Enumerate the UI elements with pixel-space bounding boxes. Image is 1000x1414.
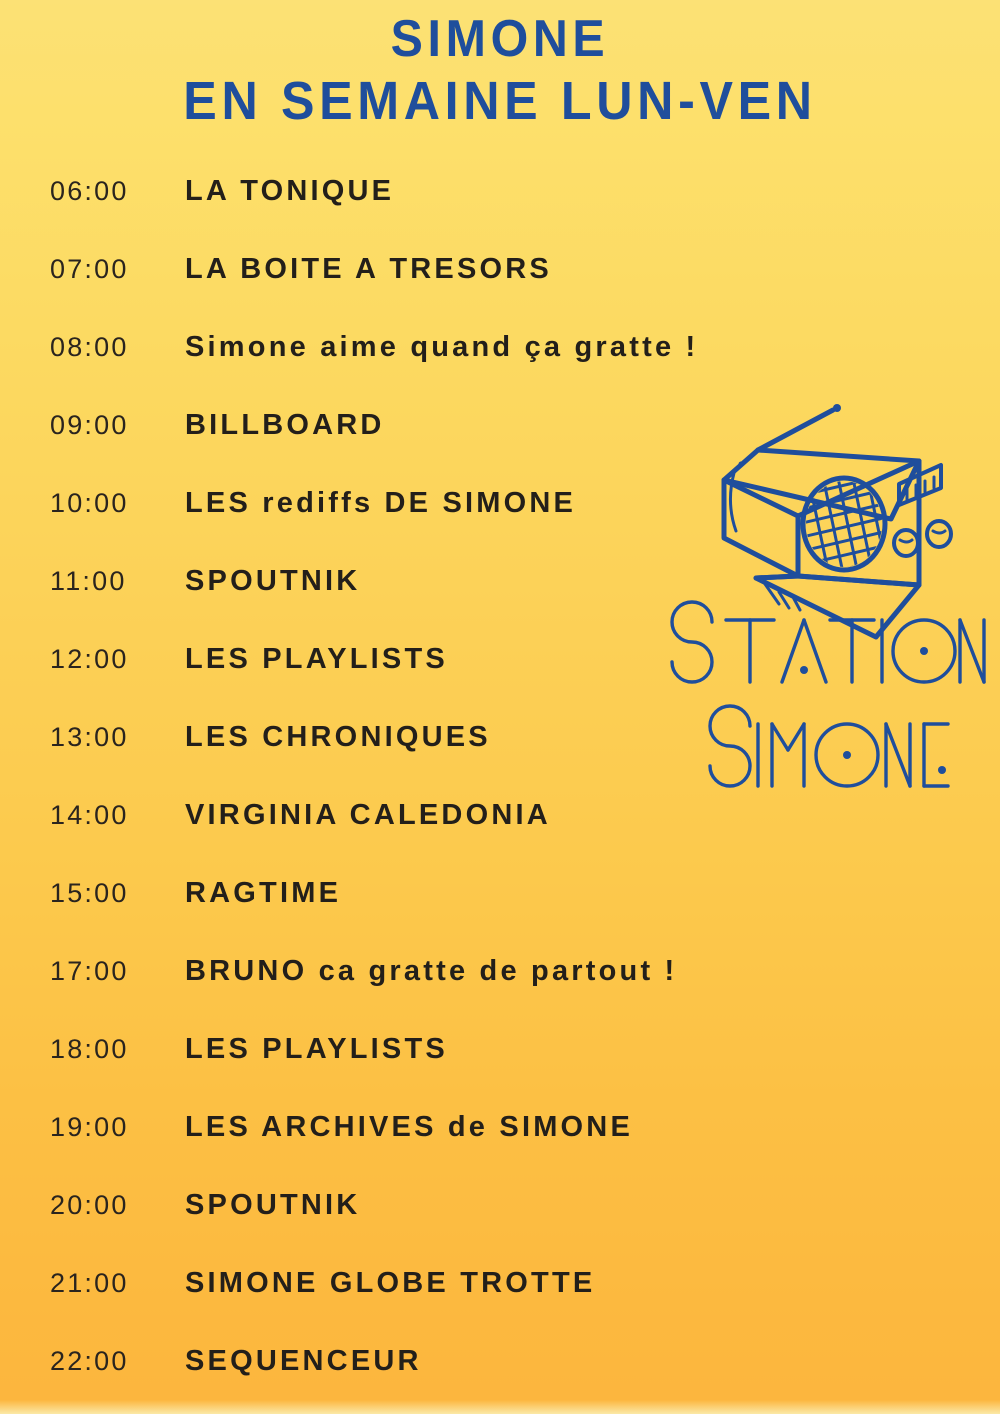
schedule-row: 20:00SPOUTNIK <box>0 1166 1000 1244</box>
schedule-row-show: LES ARCHIVES de SIMONE <box>185 1088 633 1166</box>
schedule-row-show: LES PLAYLISTS <box>185 620 448 698</box>
schedule-row-time: 07:00 <box>50 230 129 308</box>
schedule-row-time: 08:00 <box>50 308 129 386</box>
schedule-row: 07:00LA BOITE A TRESORS <box>0 230 1000 308</box>
schedule-row: 22:00SEQUENCEUR <box>0 1322 1000 1400</box>
station-simone-logo <box>648 388 988 813</box>
schedule-row-show: SIMONE GLOBE TROTTE <box>185 1244 595 1322</box>
schedule-row-show: Simone aime quand ça gratte ! <box>185 308 698 386</box>
wordmark-simone <box>710 706 948 786</box>
schedule-row-show: BRUNO ca gratte de partout ! <box>185 932 677 1010</box>
schedule-row: 17:00BRUNO ca gratte de partout ! <box>0 932 1000 1010</box>
schedule-row-show: LES PLAYLISTS <box>185 1010 448 1088</box>
schedule-row-show: RAGTIME <box>185 854 341 932</box>
schedule-row-time: 21:00 <box>50 1244 129 1322</box>
poster-title-line-2: EN SEMAINE LUN-VEN <box>35 70 965 132</box>
radio-schedule-poster: SIMONE EN SEMAINE LUN-VEN 06:00LA TONIQU… <box>0 0 1000 1414</box>
schedule-row-time: 11:00 <box>50 542 127 620</box>
schedule-row-time: 09:00 <box>50 386 129 464</box>
schedule-row-time: 19:00 <box>50 1088 129 1166</box>
schedule-row-show: SEQUENCEUR <box>185 1322 422 1400</box>
schedule-row: 18:00LES PLAYLISTS <box>0 1010 1000 1088</box>
schedule-row-time: 06:00 <box>50 152 129 230</box>
schedule-row-time: 10:00 <box>50 464 129 542</box>
schedule-row: 06:00LA TONIQUE <box>0 152 1000 230</box>
schedule-row: 08:00Simone aime quand ça gratte ! <box>0 308 1000 386</box>
schedule-row-time: 18:00 <box>50 1010 129 1088</box>
schedule-row-time: 15:00 <box>50 854 129 932</box>
radio-icon <box>724 404 951 637</box>
poster-title: SIMONE EN SEMAINE LUN-VEN <box>0 8 1000 132</box>
schedule-row-time: 22:00 <box>50 1322 129 1400</box>
schedule-row: 15:00RAGTIME <box>0 854 1000 932</box>
schedule-row-time: 14:00 <box>50 776 129 854</box>
schedule-row-show: SPOUTNIK <box>185 542 360 620</box>
schedule-row-show: BILLBOARD <box>185 386 385 464</box>
schedule-row-time: 17:00 <box>50 932 129 1010</box>
schedule-row: 19:00LES ARCHIVES de SIMONE <box>0 1088 1000 1166</box>
schedule-row-time: 12:00 <box>50 620 129 698</box>
schedule-row-time: 13:00 <box>50 698 129 776</box>
schedule-row-show: LA TONIQUE <box>185 152 394 230</box>
schedule-row-show: LES rediffs DE SIMONE <box>185 464 576 542</box>
schedule-row: 21:00SIMONE GLOBE TROTTE <box>0 1244 1000 1322</box>
schedule-row-show: SPOUTNIK <box>185 1166 360 1244</box>
schedule-row-time: 20:00 <box>50 1166 129 1244</box>
poster-title-line-1: SIMONE <box>35 8 965 70</box>
schedule-row-show: LA BOITE A TRESORS <box>185 230 552 308</box>
schedule-row-show: LES CHRONIQUES <box>185 698 491 776</box>
schedule-row-show: VIRGINIA CALEDONIA <box>185 776 551 854</box>
